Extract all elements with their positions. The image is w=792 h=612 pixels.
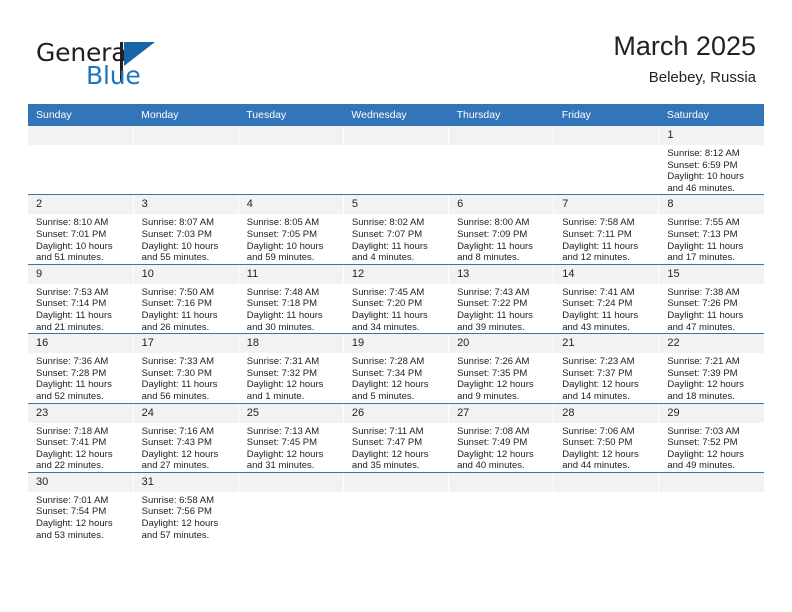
day-number: 5 xyxy=(344,195,448,214)
sunrise-text: Sunrise: 7:06 AM xyxy=(562,426,654,438)
daylight-text-line1: Daylight: 12 hours xyxy=(142,518,234,530)
weekday-header-monday: Monday xyxy=(133,104,238,126)
sunrise-text: Sunrise: 7:45 AM xyxy=(352,287,444,299)
daylight-text-line2: and 57 minutes. xyxy=(142,530,234,542)
calendar-day-cell[interactable]: 26Sunrise: 7:11 AMSunset: 7:47 PMDayligh… xyxy=(343,403,448,472)
day-sun-info: Sunrise: 7:50 AMSunset: 7:16 PMDaylight:… xyxy=(134,284,238,333)
sunset-text: Sunset: 7:50 PM xyxy=(562,437,654,449)
daylight-text-line2: and 52 minutes. xyxy=(36,391,129,403)
day-sun-info: Sunrise: 8:10 AMSunset: 7:01 PMDaylight:… xyxy=(28,214,133,263)
calendar-day-cell[interactable]: 27Sunrise: 7:08 AMSunset: 7:49 PMDayligh… xyxy=(449,403,554,472)
sunrise-text: Sunrise: 7:23 AM xyxy=(562,356,654,368)
day-number: 24 xyxy=(134,404,238,423)
calendar-grid: SundayMondayTuesdayWednesdayThursdayFrid… xyxy=(28,104,764,541)
daylight-text-line1: Daylight: 10 hours xyxy=(142,241,234,253)
calendar-day-cell[interactable]: 6Sunrise: 8:00 AMSunset: 7:09 PMDaylight… xyxy=(449,195,554,264)
daylight-text-line1: Daylight: 10 hours xyxy=(247,241,339,253)
daylight-text-line2: and 27 minutes. xyxy=(142,460,234,472)
daylight-text-line2: and 53 minutes. xyxy=(36,530,129,542)
sunrise-text: Sunrise: 7:53 AM xyxy=(36,287,129,299)
daylight-text-line1: Daylight: 12 hours xyxy=(142,449,234,461)
calendar-day-cell[interactable]: 4Sunrise: 8:05 AMSunset: 7:05 PMDaylight… xyxy=(238,195,343,264)
day-sun-info: Sunrise: 7:48 AMSunset: 7:18 PMDaylight:… xyxy=(239,284,343,333)
calendar-day-cell[interactable]: 5Sunrise: 8:02 AMSunset: 7:07 PMDaylight… xyxy=(343,195,448,264)
daylight-text-line2: and 18 minutes. xyxy=(667,391,760,403)
daylight-text-line1: Daylight: 11 hours xyxy=(36,310,129,322)
day-number: 29 xyxy=(659,404,764,423)
calendar-cell-empty xyxy=(28,126,133,195)
day-number: 16 xyxy=(28,334,133,353)
calendar-week-row: 23Sunrise: 7:18 AMSunset: 7:41 PMDayligh… xyxy=(28,403,764,472)
day-number: 20 xyxy=(449,334,553,353)
daylight-text-line2: and 47 minutes. xyxy=(667,322,760,334)
day-number: 17 xyxy=(134,334,238,353)
daylight-text-line2: and 43 minutes. xyxy=(562,322,654,334)
daylight-text-line2: and 56 minutes. xyxy=(142,391,234,403)
day-number: 15 xyxy=(659,265,764,284)
sunset-text: Sunset: 7:32 PM xyxy=(247,368,339,380)
calendar-day-cell[interactable]: 15Sunrise: 7:38 AMSunset: 7:26 PMDayligh… xyxy=(659,264,764,333)
weekday-header-tuesday: Tuesday xyxy=(238,104,343,126)
daylight-text-line2: and 14 minutes. xyxy=(562,391,654,403)
sunrise-text: Sunrise: 8:07 AM xyxy=(142,217,234,229)
day-sun-info: Sunrise: 8:02 AMSunset: 7:07 PMDaylight:… xyxy=(344,214,448,263)
weekday-header-thursday: Thursday xyxy=(449,104,554,126)
day-number: 12 xyxy=(344,265,448,284)
sunrise-text: Sunrise: 7:55 AM xyxy=(667,217,760,229)
sunset-text: Sunset: 7:11 PM xyxy=(562,229,654,241)
daylight-text-line1: Daylight: 11 hours xyxy=(36,379,129,391)
sunrise-text: Sunrise: 7:03 AM xyxy=(667,426,760,438)
day-number: 3 xyxy=(134,195,238,214)
calendar-day-cell[interactable]: 30Sunrise: 7:01 AMSunset: 7:54 PMDayligh… xyxy=(28,472,133,541)
day-number: 31 xyxy=(134,473,238,492)
sunset-text: Sunset: 7:24 PM xyxy=(562,298,654,310)
daylight-text-line2: and 46 minutes. xyxy=(667,183,760,195)
calendar-day-cell[interactable]: 22Sunrise: 7:21 AMSunset: 7:39 PMDayligh… xyxy=(659,334,764,403)
day-number: 19 xyxy=(344,334,448,353)
sunset-text: Sunset: 7:56 PM xyxy=(142,506,234,518)
daylight-text-line1: Daylight: 12 hours xyxy=(457,379,549,391)
sunset-text: Sunset: 7:03 PM xyxy=(142,229,234,241)
sunset-text: Sunset: 7:52 PM xyxy=(667,437,760,449)
daylight-text-line1: Daylight: 12 hours xyxy=(562,379,654,391)
day-number: 1 xyxy=(659,126,764,145)
sunset-text: Sunset: 7:54 PM xyxy=(36,506,129,518)
day-number: 18 xyxy=(239,334,343,353)
day-number: 22 xyxy=(659,334,764,353)
daylight-text-line2: and 34 minutes. xyxy=(352,322,444,334)
sunrise-text: Sunrise: 8:10 AM xyxy=(36,217,129,229)
calendar-cell-empty xyxy=(238,126,343,195)
day-number-placeholder xyxy=(239,473,343,492)
day-number: 2 xyxy=(28,195,133,214)
day-sun-info: Sunrise: 7:36 AMSunset: 7:28 PMDaylight:… xyxy=(28,353,133,402)
day-number: 30 xyxy=(28,473,133,492)
daylight-text-line2: and 8 minutes. xyxy=(457,252,549,264)
sunrise-text: Sunrise: 7:38 AM xyxy=(667,287,760,299)
daylight-text-line2: and 55 minutes. xyxy=(142,252,234,264)
day-number: 26 xyxy=(344,404,448,423)
daylight-text-line1: Daylight: 11 hours xyxy=(667,241,760,253)
sunrise-text: Sunrise: 7:36 AM xyxy=(36,356,129,368)
day-number-placeholder xyxy=(449,473,553,492)
day-number: 6 xyxy=(449,195,553,214)
sunset-text: Sunset: 7:09 PM xyxy=(457,229,549,241)
calendar-day-cell[interactable]: 20Sunrise: 7:26 AMSunset: 7:35 PMDayligh… xyxy=(449,334,554,403)
calendar-week-row: 1Sunrise: 8:12 AMSunset: 6:59 PMDaylight… xyxy=(28,126,764,195)
sunrise-text: Sunrise: 7:33 AM xyxy=(142,356,234,368)
calendar-day-cell[interactable]: 21Sunrise: 7:23 AMSunset: 7:37 PMDayligh… xyxy=(554,334,659,403)
sunrise-text: Sunrise: 7:08 AM xyxy=(457,426,549,438)
logo-text-blue: Blue xyxy=(86,61,141,90)
day-sun-info: Sunrise: 7:06 AMSunset: 7:50 PMDaylight:… xyxy=(554,423,658,472)
daylight-text-line1: Daylight: 11 hours xyxy=(562,241,654,253)
calendar-week-row: 2Sunrise: 8:10 AMSunset: 7:01 PMDaylight… xyxy=(28,195,764,264)
calendar-day-cell[interactable]: 8Sunrise: 7:55 AMSunset: 7:13 PMDaylight… xyxy=(659,195,764,264)
daylight-text-line1: Daylight: 11 hours xyxy=(457,310,549,322)
day-sun-info: Sunrise: 7:11 AMSunset: 7:47 PMDaylight:… xyxy=(344,423,448,472)
calendar-week-row: 9Sunrise: 7:53 AMSunset: 7:14 PMDaylight… xyxy=(28,264,764,333)
daylight-text-line2: and 51 minutes. xyxy=(36,252,129,264)
weekday-header-friday: Friday xyxy=(554,104,659,126)
calendar-day-cell[interactable]: 7Sunrise: 7:58 AMSunset: 7:11 PMDaylight… xyxy=(554,195,659,264)
calendar-cell-empty xyxy=(133,126,238,195)
calendar-cell-empty xyxy=(554,126,659,195)
sunset-text: Sunset: 7:14 PM xyxy=(36,298,129,310)
daylight-text-line2: and 5 minutes. xyxy=(352,391,444,403)
sunset-text: Sunset: 7:41 PM xyxy=(36,437,129,449)
daylight-text-line1: Daylight: 11 hours xyxy=(142,379,234,391)
day-sun-info: Sunrise: 7:13 AMSunset: 7:45 PMDaylight:… xyxy=(239,423,343,472)
day-sun-info: Sunrise: 7:45 AMSunset: 7:20 PMDaylight:… xyxy=(344,284,448,333)
sunset-text: Sunset: 7:47 PM xyxy=(352,437,444,449)
daylight-text-line1: Daylight: 11 hours xyxy=(247,310,339,322)
daylight-text-line2: and 44 minutes. xyxy=(562,460,654,472)
sunrise-text: Sunrise: 7:11 AM xyxy=(352,426,444,438)
calendar-week-row: 30Sunrise: 7:01 AMSunset: 7:54 PMDayligh… xyxy=(28,472,764,541)
daylight-text-line2: and 4 minutes. xyxy=(352,252,444,264)
sunset-text: Sunset: 7:30 PM xyxy=(142,368,234,380)
daylight-text-line1: Daylight: 10 hours xyxy=(667,171,760,183)
daylight-text-line1: Daylight: 12 hours xyxy=(667,379,760,391)
calendar-day-cell[interactable]: 14Sunrise: 7:41 AMSunset: 7:24 PMDayligh… xyxy=(554,264,659,333)
daylight-text-line2: and 31 minutes. xyxy=(247,460,339,472)
calendar-day-cell[interactable]: 3Sunrise: 8:07 AMSunset: 7:03 PMDaylight… xyxy=(133,195,238,264)
calendar-day-cell[interactable]: 18Sunrise: 7:31 AMSunset: 7:32 PMDayligh… xyxy=(238,334,343,403)
calendar-header-row: SundayMondayTuesdayWednesdayThursdayFrid… xyxy=(28,104,764,126)
daylight-text-line2: and 40 minutes. xyxy=(457,460,549,472)
daylight-text-line1: Daylight: 11 hours xyxy=(667,310,760,322)
sunset-text: Sunset: 7:13 PM xyxy=(667,229,760,241)
calendar-day-cell[interactable]: 16Sunrise: 7:36 AMSunset: 7:28 PMDayligh… xyxy=(28,334,133,403)
day-sun-info: Sunrise: 7:41 AMSunset: 7:24 PMDaylight:… xyxy=(554,284,658,333)
calendar-day-cell[interactable]: 28Sunrise: 7:06 AMSunset: 7:50 PMDayligh… xyxy=(554,403,659,472)
calendar-day-cell[interactable]: 1Sunrise: 8:12 AMSunset: 6:59 PMDaylight… xyxy=(659,126,764,195)
sunrise-text: Sunrise: 7:28 AM xyxy=(352,356,444,368)
day-number: 14 xyxy=(554,265,658,284)
page-title: March 2025 xyxy=(613,30,756,62)
sunset-text: Sunset: 7:43 PM xyxy=(142,437,234,449)
sunset-text: Sunset: 7:28 PM xyxy=(36,368,129,380)
sunrise-text: Sunrise: 7:01 AM xyxy=(36,495,129,507)
sunrise-text: Sunrise: 7:48 AM xyxy=(247,287,339,299)
day-number-placeholder xyxy=(344,126,448,145)
day-sun-info: Sunrise: 7:23 AMSunset: 7:37 PMDaylight:… xyxy=(554,353,658,402)
daylight-text-line1: Daylight: 12 hours xyxy=(667,449,760,461)
calendar-body: 1Sunrise: 8:12 AMSunset: 6:59 PMDaylight… xyxy=(28,126,764,541)
daylight-text-line2: and 30 minutes. xyxy=(247,322,339,334)
calendar-cell-empty xyxy=(343,126,448,195)
sunrise-text: Sunrise: 7:21 AM xyxy=(667,356,760,368)
sunrise-text: Sunrise: 7:31 AM xyxy=(247,356,339,368)
daylight-text-line2: and 17 minutes. xyxy=(667,252,760,264)
sunrise-text: Sunrise: 7:50 AM xyxy=(142,287,234,299)
day-sun-info: Sunrise: 7:18 AMSunset: 7:41 PMDaylight:… xyxy=(28,423,133,472)
calendar-day-cell[interactable]: 31Sunrise: 6:58 AMSunset: 7:56 PMDayligh… xyxy=(133,472,238,541)
sunset-text: Sunset: 7:05 PM xyxy=(247,229,339,241)
day-number-placeholder xyxy=(554,473,658,492)
sunset-text: Sunset: 7:16 PM xyxy=(142,298,234,310)
day-number-placeholder xyxy=(449,126,553,145)
sunrise-text: Sunrise: 8:05 AM xyxy=(247,217,339,229)
day-sun-info: Sunrise: 8:05 AMSunset: 7:05 PMDaylight:… xyxy=(239,214,343,263)
day-number: 10 xyxy=(134,265,238,284)
daylight-text-line1: Daylight: 12 hours xyxy=(457,449,549,461)
calendar-cell-empty xyxy=(554,472,659,541)
daylight-text-line1: Daylight: 10 hours xyxy=(36,241,129,253)
day-number-placeholder xyxy=(28,126,133,145)
day-number: 11 xyxy=(239,265,343,284)
day-sun-info: Sunrise: 7:01 AMSunset: 7:54 PMDaylight:… xyxy=(28,492,133,541)
daylight-text-line1: Daylight: 12 hours xyxy=(562,449,654,461)
day-sun-info: Sunrise: 7:21 AMSunset: 7:39 PMDaylight:… xyxy=(659,353,764,402)
sunset-text: Sunset: 7:22 PM xyxy=(457,298,549,310)
sunrise-text: Sunrise: 8:00 AM xyxy=(457,217,549,229)
day-number-placeholder xyxy=(344,473,448,492)
day-number: 25 xyxy=(239,404,343,423)
sunrise-text: Sunrise: 7:58 AM xyxy=(562,217,654,229)
calendar-day-cell[interactable]: 19Sunrise: 7:28 AMSunset: 7:34 PMDayligh… xyxy=(343,334,448,403)
calendar-day-cell[interactable]: 13Sunrise: 7:43 AMSunset: 7:22 PMDayligh… xyxy=(449,264,554,333)
daylight-text-line1: Daylight: 12 hours xyxy=(36,518,129,530)
daylight-text-line1: Daylight: 12 hours xyxy=(247,379,339,391)
daylight-text-line2: and 49 minutes. xyxy=(667,460,760,472)
sunset-text: Sunset: 7:35 PM xyxy=(457,368,549,380)
day-sun-info: Sunrise: 7:28 AMSunset: 7:34 PMDaylight:… xyxy=(344,353,448,402)
calendar-page: General Blue March 2025 Belebey, Russia … xyxy=(0,0,792,612)
day-number: 21 xyxy=(554,334,658,353)
weekday-header-wednesday: Wednesday xyxy=(343,104,448,126)
daylight-text-line2: and 35 minutes. xyxy=(352,460,444,472)
daylight-text-line2: and 26 minutes. xyxy=(142,322,234,334)
sunrise-text: Sunrise: 7:41 AM xyxy=(562,287,654,299)
day-number-placeholder xyxy=(239,126,343,145)
page-header: General Blue March 2025 Belebey, Russia xyxy=(0,0,792,104)
day-number-placeholder xyxy=(659,473,764,492)
sunset-text: Sunset: 6:59 PM xyxy=(667,160,760,172)
calendar-day-cell[interactable]: 12Sunrise: 7:45 AMSunset: 7:20 PMDayligh… xyxy=(343,264,448,333)
sunrise-text: Sunrise: 7:13 AM xyxy=(247,426,339,438)
day-number: 28 xyxy=(554,404,658,423)
calendar-day-cell[interactable]: 10Sunrise: 7:50 AMSunset: 7:16 PMDayligh… xyxy=(133,264,238,333)
calendar-week-row: 16Sunrise: 7:36 AMSunset: 7:28 PMDayligh… xyxy=(28,334,764,403)
calendar-day-cell[interactable]: 2Sunrise: 8:10 AMSunset: 7:01 PMDaylight… xyxy=(28,195,133,264)
calendar-day-cell[interactable]: 11Sunrise: 7:48 AMSunset: 7:18 PMDayligh… xyxy=(238,264,343,333)
daylight-text-line1: Daylight: 11 hours xyxy=(457,241,549,253)
sunset-text: Sunset: 7:07 PM xyxy=(352,229,444,241)
sunset-text: Sunset: 7:49 PM xyxy=(457,437,549,449)
day-sun-info: Sunrise: 7:03 AMSunset: 7:52 PMDaylight:… xyxy=(659,423,764,472)
daylight-text-line1: Daylight: 11 hours xyxy=(562,310,654,322)
calendar-cell-empty xyxy=(659,472,764,541)
daylight-text-line2: and 22 minutes. xyxy=(36,460,129,472)
daylight-text-line1: Daylight: 12 hours xyxy=(352,379,444,391)
day-sun-info: Sunrise: 7:08 AMSunset: 7:49 PMDaylight:… xyxy=(449,423,553,472)
day-number: 23 xyxy=(28,404,133,423)
day-number: 27 xyxy=(449,404,553,423)
sunset-text: Sunset: 7:01 PM xyxy=(36,229,129,241)
daylight-text-line2: and 59 minutes. xyxy=(247,252,339,264)
day-number-placeholder xyxy=(554,126,658,145)
day-number: 13 xyxy=(449,265,553,284)
calendar-day-cell[interactable]: 23Sunrise: 7:18 AMSunset: 7:41 PMDayligh… xyxy=(28,403,133,472)
daylight-text-line1: Daylight: 12 hours xyxy=(247,449,339,461)
sunset-text: Sunset: 7:45 PM xyxy=(247,437,339,449)
sunrise-text: Sunrise: 8:02 AM xyxy=(352,217,444,229)
sunrise-text: Sunrise: 7:16 AM xyxy=(142,426,234,438)
weekday-header-sunday: Sunday xyxy=(28,104,133,126)
sunset-text: Sunset: 7:37 PM xyxy=(562,368,654,380)
sunrise-text: Sunrise: 7:43 AM xyxy=(457,287,549,299)
daylight-text-line1: Daylight: 11 hours xyxy=(352,310,444,322)
day-number-placeholder xyxy=(134,126,238,145)
day-sun-info: Sunrise: 8:07 AMSunset: 7:03 PMDaylight:… xyxy=(134,214,238,263)
weekday-header-saturday: Saturday xyxy=(659,104,764,126)
calendar-cell-empty xyxy=(238,472,343,541)
day-sun-info: Sunrise: 7:43 AMSunset: 7:22 PMDaylight:… xyxy=(449,284,553,333)
calendar-day-cell[interactable]: 17Sunrise: 7:33 AMSunset: 7:30 PMDayligh… xyxy=(133,334,238,403)
sunset-text: Sunset: 7:39 PM xyxy=(667,368,760,380)
day-sun-info: Sunrise: 7:53 AMSunset: 7:14 PMDaylight:… xyxy=(28,284,133,333)
day-sun-info: Sunrise: 8:00 AMSunset: 7:09 PMDaylight:… xyxy=(449,214,553,263)
calendar-cell-empty xyxy=(343,472,448,541)
day-sun-info: Sunrise: 7:16 AMSunset: 7:43 PMDaylight:… xyxy=(134,423,238,472)
sunrise-text: Sunrise: 7:26 AM xyxy=(457,356,549,368)
sunrise-text: Sunrise: 6:58 AM xyxy=(142,495,234,507)
daylight-text-line1: Daylight: 12 hours xyxy=(352,449,444,461)
day-number: 8 xyxy=(659,195,764,214)
sunset-text: Sunset: 7:20 PM xyxy=(352,298,444,310)
day-sun-info: Sunrise: 7:31 AMSunset: 7:32 PMDaylight:… xyxy=(239,353,343,402)
daylight-text-line2: and 39 minutes. xyxy=(457,322,549,334)
sunrise-text: Sunrise: 7:18 AM xyxy=(36,426,129,438)
daylight-text-line1: Daylight: 11 hours xyxy=(352,241,444,253)
day-sun-info: Sunrise: 8:12 AMSunset: 6:59 PMDaylight:… xyxy=(659,145,764,194)
day-sun-info: Sunrise: 7:38 AMSunset: 7:26 PMDaylight:… xyxy=(659,284,764,333)
day-number: 9 xyxy=(28,265,133,284)
day-sun-info: Sunrise: 7:58 AMSunset: 7:11 PMDaylight:… xyxy=(554,214,658,263)
location-subtitle: Belebey, Russia xyxy=(613,67,756,89)
calendar-day-cell[interactable]: 29Sunrise: 7:03 AMSunset: 7:52 PMDayligh… xyxy=(659,403,764,472)
calendar-day-cell[interactable]: 25Sunrise: 7:13 AMSunset: 7:45 PMDayligh… xyxy=(238,403,343,472)
calendar-day-cell[interactable]: 24Sunrise: 7:16 AMSunset: 7:43 PMDayligh… xyxy=(133,403,238,472)
day-number: 7 xyxy=(554,195,658,214)
calendar-day-cell[interactable]: 9Sunrise: 7:53 AMSunset: 7:14 PMDaylight… xyxy=(28,264,133,333)
sunset-text: Sunset: 7:34 PM xyxy=(352,368,444,380)
calendar-cell-empty xyxy=(449,472,554,541)
daylight-text-line2: and 21 minutes. xyxy=(36,322,129,334)
day-sun-info: Sunrise: 7:55 AMSunset: 7:13 PMDaylight:… xyxy=(659,214,764,263)
day-sun-info: Sunrise: 7:26 AMSunset: 7:35 PMDaylight:… xyxy=(449,353,553,402)
daylight-text-line2: and 1 minute. xyxy=(247,391,339,403)
day-sun-info: Sunrise: 6:58 AMSunset: 7:56 PMDaylight:… xyxy=(134,492,238,541)
day-number: 4 xyxy=(239,195,343,214)
daylight-text-line2: and 9 minutes. xyxy=(457,391,549,403)
sunrise-text: Sunrise: 8:12 AM xyxy=(667,148,760,160)
general-blue-logo[interactable]: General Blue xyxy=(36,38,236,90)
day-sun-info: Sunrise: 7:33 AMSunset: 7:30 PMDaylight:… xyxy=(134,353,238,402)
calendar-cell-empty xyxy=(449,126,554,195)
daylight-text-line2: and 12 minutes. xyxy=(562,252,654,264)
sunset-text: Sunset: 7:18 PM xyxy=(247,298,339,310)
daylight-text-line1: Daylight: 12 hours xyxy=(36,449,129,461)
daylight-text-line1: Daylight: 11 hours xyxy=(142,310,234,322)
title-block: March 2025 Belebey, Russia xyxy=(613,30,756,89)
sunset-text: Sunset: 7:26 PM xyxy=(667,298,760,310)
